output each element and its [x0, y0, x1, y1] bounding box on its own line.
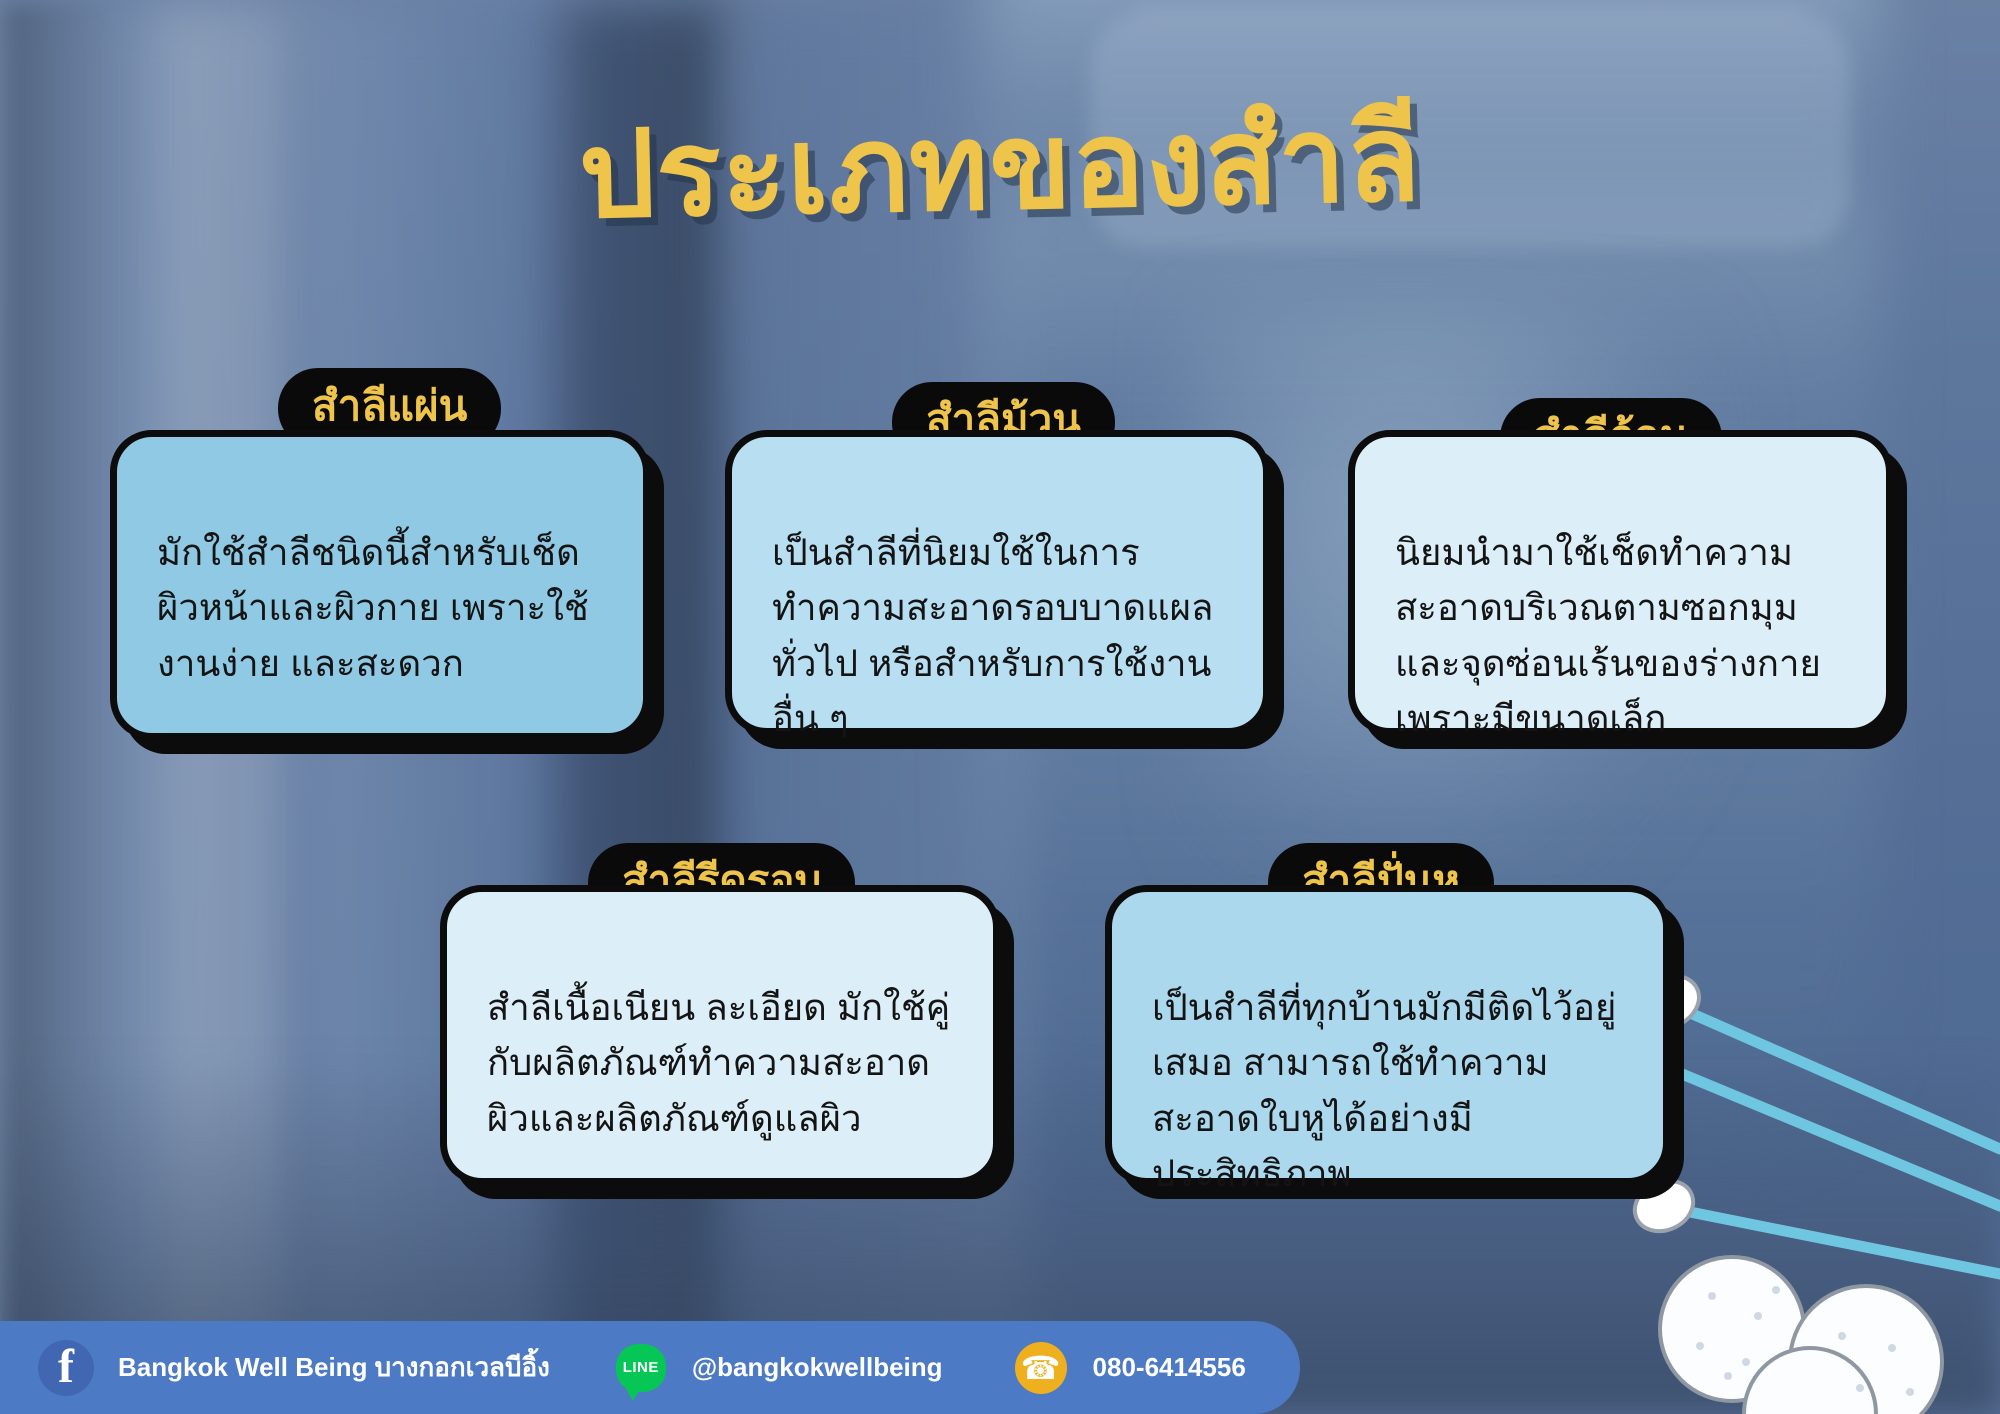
line-icon: LINE [616, 1344, 666, 1392]
contact-facebook[interactable]: Bangkok Well Being บางกอกเวลบีอิ้ง [38, 1340, 550, 1396]
contact-phone[interactable]: 080-6414556 [1015, 1342, 1246, 1394]
card-description: นิยมนำมาใช้เช็ดทำความสะอาดบริเวณตามซอกมุ… [1355, 437, 1886, 781]
info-card: สำลีเนื้อเนียน ละเอียด มักใช้คู่กับผลิตภ… [440, 885, 1000, 1185]
card-description: มักใช้สำลีชนิดนี้สำหรับเช็ดผิวหน้าและผิว… [117, 437, 643, 725]
contact-line[interactable]: LINE @bangkokwellbeing [616, 1344, 943, 1392]
card-description: สำลีเนื้อเนียน ละเอียด มักใช้คู่กับผลิตภ… [447, 892, 993, 1180]
card-body: เป็นสำลีที่ทุกบ้านมักมีติดไว้อยู่เสมอ สา… [1105, 885, 1670, 1185]
phone-label: 080-6414556 [1093, 1352, 1246, 1383]
info-card: เป็นสำลีที่นิยมใช้ในการทำความสะอาดรอบบาด… [725, 430, 1270, 735]
line-label: @bangkokwellbeing [692, 1352, 943, 1383]
info-card: นิยมนำมาใช้เช็ดทำความสะอาดบริเวณตามซอกมุ… [1348, 430, 1893, 735]
card-body: สำลีเนื้อเนียน ละเอียด มักใช้คู่กับผลิตภ… [440, 885, 1000, 1185]
card-body: เป็นสำลีที่นิยมใช้ในการทำความสะอาดรอบบาด… [725, 430, 1270, 735]
title-container: ประเภทของสำลี [0, 92, 2000, 272]
phone-icon [1015, 1342, 1067, 1394]
facebook-label: Bangkok Well Being บางกอกเวลบีอิ้ง [118, 1347, 550, 1388]
card-body: นิยมนำมาใช้เช็ดทำความสะอาดบริเวณตามซอกมุ… [1348, 430, 1893, 735]
info-card: มักใช้สำลีชนิดนี้สำหรับเช็ดผิวหน้าและผิว… [110, 430, 650, 740]
footer-contact-bar: Bangkok Well Being บางกอกเวลบีอิ้ง LINE … [0, 1321, 1300, 1414]
card-body: มักใช้สำลีชนิดนี้สำหรับเช็ดผิวหน้าและผิว… [110, 430, 650, 740]
line-icon-text: LINE [616, 1344, 666, 1392]
card-description: เป็นสำลีที่ทุกบ้านมักมีติดไว้อยู่เสมอ สา… [1112, 892, 1663, 1236]
facebook-icon [38, 1340, 94, 1396]
page-title: ประเภทของสำลี [577, 83, 1422, 251]
card-description: เป็นสำลีที่นิยมใช้ในการทำความสะอาดรอบบาด… [732, 437, 1263, 781]
info-card: เป็นสำลีที่ทุกบ้านมักมีติดไว้อยู่เสมอ สา… [1105, 885, 1670, 1185]
